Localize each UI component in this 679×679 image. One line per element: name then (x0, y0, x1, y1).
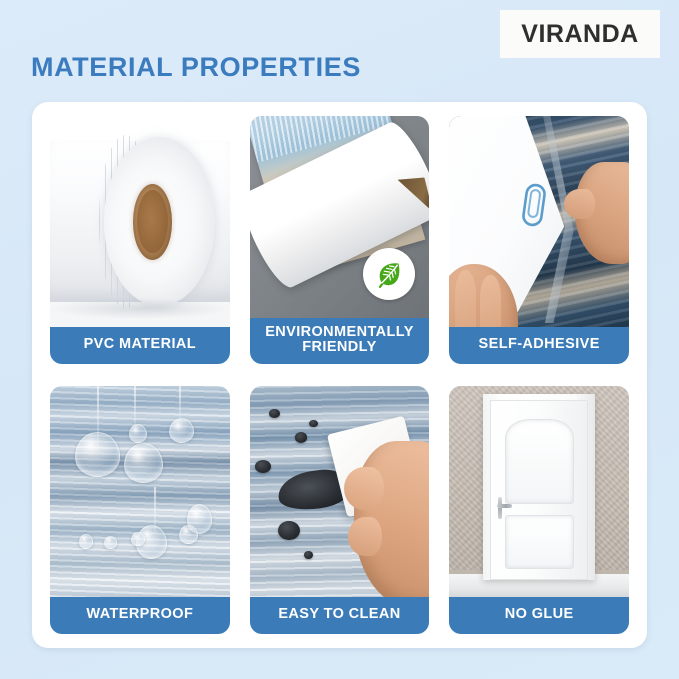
stain-spot (269, 409, 280, 417)
feature-tile-waterproof[interactable]: WATERPROOF (50, 386, 230, 634)
door-frame (483, 394, 594, 580)
features-card: PVC MATERIAL (32, 102, 647, 648)
door-handle (498, 497, 502, 519)
infographic-page: VIRANDA MATERIAL PROPERTIES PVC MATERIAL (0, 0, 679, 679)
feature-label-no-glue: NO GLUE (449, 597, 629, 634)
stain-spot (295, 432, 308, 443)
feature-tile-easy-to-clean[interactable]: EASY TO CLEAN (250, 386, 430, 634)
water-droplet (79, 534, 94, 549)
water-droplet (169, 418, 194, 443)
water-droplet (179, 525, 197, 544)
stain-spot (278, 521, 300, 540)
drop-trail (134, 386, 136, 428)
waterproof-image (50, 386, 230, 597)
pvc-roll-image (50, 116, 230, 327)
feature-label-easy-to-clean: EASY TO CLEAN (250, 597, 430, 634)
drop-trail (179, 386, 181, 420)
eco-badge (363, 248, 415, 300)
stain-spot (309, 420, 318, 427)
water-droplet (124, 443, 164, 483)
feature-tile-environmentally-friendly[interactable]: ENVIRONMENTALLY FRIENDLY (250, 116, 430, 364)
eco-roll-image (250, 116, 430, 318)
roll-core-inner (137, 190, 168, 253)
water-droplet (129, 424, 147, 443)
feature-tile-self-adhesive[interactable]: SELF-ADHESIVE (449, 116, 629, 364)
stain-spot (255, 460, 271, 473)
self-adhesive-image (449, 116, 629, 327)
leaf-icon (372, 257, 406, 291)
door-panel-top (505, 419, 574, 505)
feature-tile-pvc-material[interactable]: PVC MATERIAL (50, 116, 230, 364)
roll-shadow (50, 298, 230, 319)
brand-name: VIRANDA (521, 20, 638, 49)
feature-label-waterproof: WATERPROOF (50, 597, 230, 634)
stain-spot (304, 551, 313, 559)
easy-to-clean-image (250, 386, 430, 597)
no-glue-image (449, 386, 629, 597)
brand-logo: VIRANDA (500, 10, 660, 58)
feature-label-pvc-material: PVC MATERIAL (50, 327, 230, 364)
door-leaf (490, 400, 588, 580)
page-title: MATERIAL PROPERTIES (31, 52, 361, 83)
feature-tile-no-glue[interactable]: NO GLUE (449, 386, 629, 634)
door-panel-bottom (505, 515, 574, 569)
feature-label-environmentally-friendly: ENVIRONMENTALLY FRIENDLY (250, 318, 430, 364)
features-grid: PVC MATERIAL (50, 116, 629, 634)
feature-label-self-adhesive: SELF-ADHESIVE (449, 327, 629, 364)
water-droplet (104, 536, 117, 549)
water-droplet (75, 432, 120, 476)
hand-holding-cloth (354, 441, 429, 597)
